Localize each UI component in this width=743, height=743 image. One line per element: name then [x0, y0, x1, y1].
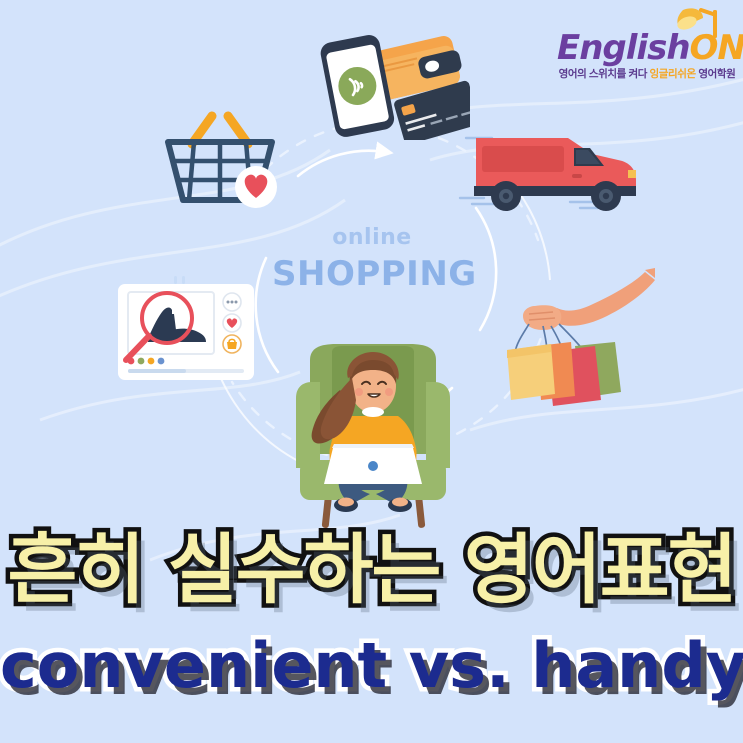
logo-english-text: English: [557, 28, 690, 68]
headline-english: convenient vs. handy: [0, 629, 743, 702]
tagline-prefix: 영어의 스위치를 켜다: [559, 68, 650, 80]
shopping-bags-icon: [495, 268, 655, 408]
smartphone-payment-icon: [315, 22, 470, 140]
headline-korean: 흔히 실수하는 영어표현: [0, 508, 743, 618]
woman-laptop-armchair-icon: [288, 342, 458, 532]
brand-logo[interactable]: EnglishON 영어의 스위치를 켜다 잉글리쉬온 영어학원: [557, 4, 737, 96]
delivery-van-icon: [458, 126, 643, 218]
logo-wordmark: EnglishON: [557, 28, 737, 68]
logo-on-text: ON: [690, 28, 743, 68]
poster-canvas: online SHOPPING: [0, 0, 743, 743]
shopping-basket-icon: [160, 108, 280, 218]
tagline-highlight: 잉글리쉬온: [650, 68, 696, 80]
product-browser-icon: [112, 276, 260, 384]
tagline-suffix: 영어학원: [696, 68, 736, 80]
logo-tagline: 영어의 스위치를 켜다 잉글리쉬온 영어학원: [557, 66, 737, 81]
